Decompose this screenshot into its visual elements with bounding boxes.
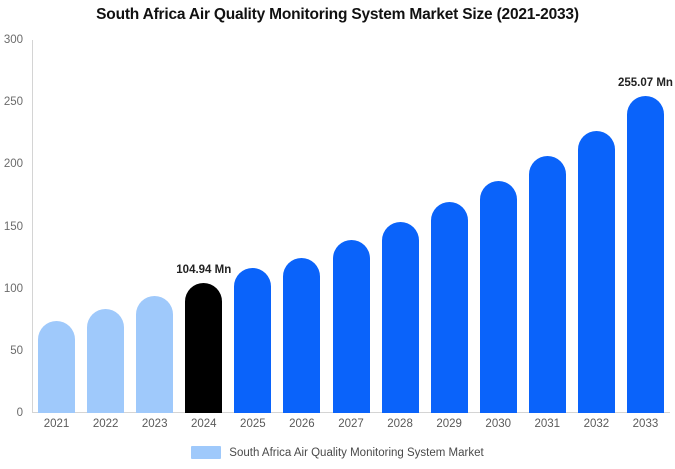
chart-legend: South Africa Air Quality Monitoring Syst… <box>0 446 675 459</box>
x-axis-tick-label: 2023 <box>142 418 168 430</box>
bar[interactable] <box>480 181 517 414</box>
x-axis-tick-label: 2025 <box>240 418 266 430</box>
x-axis-tick-label: 2030 <box>485 418 511 430</box>
bar[interactable] <box>185 283 222 413</box>
y-axis-tick-label: 150 <box>4 221 23 233</box>
x-axis-tick-label: 2033 <box>633 418 659 430</box>
x-axis-tick-label: 2027 <box>338 418 364 430</box>
bar[interactable] <box>529 156 566 413</box>
bar[interactable] <box>431 202 468 413</box>
bar-group[interactable] <box>234 40 271 413</box>
x-axis-tick-label: 2028 <box>387 418 413 430</box>
bar-group[interactable] <box>87 40 124 413</box>
bar-group[interactable] <box>529 40 566 413</box>
legend-item[interactable]: South Africa Air Quality Monitoring Syst… <box>191 446 483 459</box>
bar-group[interactable]: 255.07 Mn <box>627 40 664 413</box>
bar-group[interactable] <box>38 40 75 413</box>
bar-group[interactable] <box>333 40 370 413</box>
bar-series: 104.94 Mn255.07 Mn <box>32 40 670 413</box>
y-axis-tick-label: 100 <box>4 283 23 295</box>
y-axis-labels: 050100150200250300 <box>0 40 28 413</box>
bar-value-label: 255.07 Mn <box>618 77 673 89</box>
x-axis-tick-label: 2024 <box>191 418 217 430</box>
plot-area: 104.94 Mn255.07 Mn <box>32 40 670 413</box>
x-axis-tick-label: 2026 <box>289 418 315 430</box>
bar-group[interactable] <box>431 40 468 413</box>
bar-group[interactable] <box>578 40 615 413</box>
bar[interactable] <box>333 240 370 413</box>
y-axis-tick-label: 250 <box>4 96 23 108</box>
x-axis-labels: 2021202220232024202520262027202820292030… <box>32 418 670 438</box>
bar[interactable] <box>627 96 664 413</box>
x-axis-tick-label: 2029 <box>436 418 462 430</box>
bar[interactable] <box>382 222 419 413</box>
bar-group[interactable]: 104.94 Mn <box>185 40 222 413</box>
bar[interactable] <box>283 258 320 413</box>
x-axis-tick-label: 2031 <box>535 418 561 430</box>
bar[interactable] <box>87 309 124 413</box>
bar[interactable] <box>578 131 615 413</box>
y-axis-tick-label: 0 <box>17 407 23 419</box>
bar-group[interactable] <box>283 40 320 413</box>
bar-group[interactable] <box>136 40 173 413</box>
bar[interactable] <box>234 268 271 413</box>
x-axis-tick-label: 2021 <box>44 418 70 430</box>
legend-label: South Africa Air Quality Monitoring Syst… <box>229 447 483 459</box>
y-axis-tick-label: 200 <box>4 158 23 170</box>
x-axis-tick-label: 2032 <box>584 418 610 430</box>
legend-swatch-icon <box>191 446 221 459</box>
y-axis-tick-label: 300 <box>4 34 23 46</box>
y-axis-tick-label: 50 <box>10 345 23 357</box>
bar[interactable] <box>136 296 173 413</box>
bar-group[interactable] <box>480 40 517 413</box>
chart-container: South Africa Air Quality Monitoring Syst… <box>0 0 675 469</box>
bar[interactable] <box>38 321 75 413</box>
bar-group[interactable] <box>382 40 419 413</box>
x-axis-tick-label: 2022 <box>93 418 119 430</box>
bar-value-label: 104.94 Mn <box>176 264 231 276</box>
chart-title: South Africa Air Quality Monitoring Syst… <box>0 6 675 24</box>
